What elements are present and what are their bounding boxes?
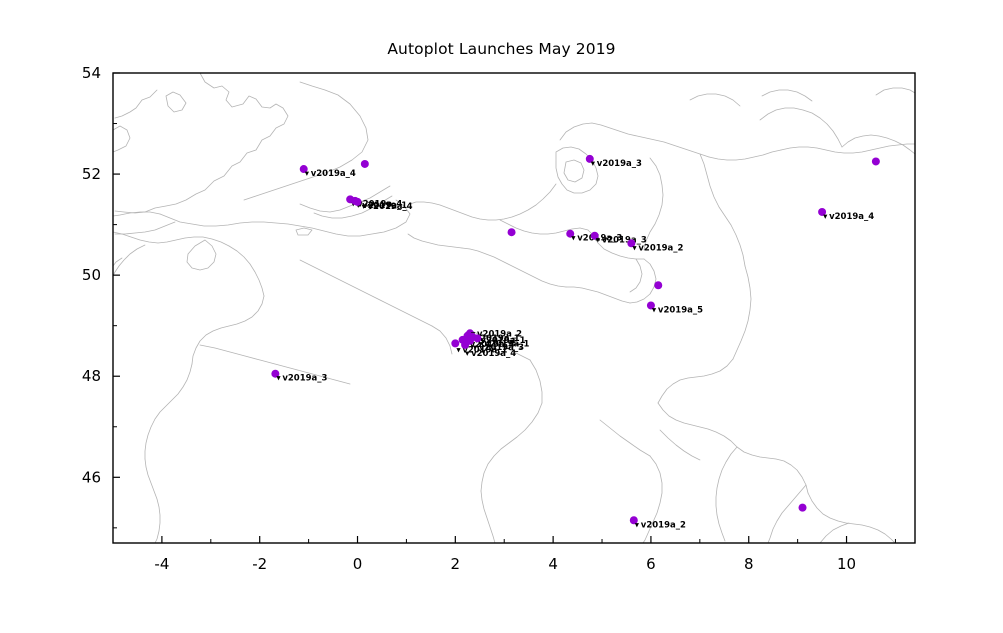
y-tick-label: 46 bbox=[82, 468, 101, 486]
x-tick-label: 2 bbox=[451, 555, 461, 573]
data-point-marker-glyph: ▾ bbox=[362, 202, 367, 212]
y-tick-label: 52 bbox=[82, 165, 101, 183]
data-point-marker bbox=[354, 198, 362, 206]
x-tick-label: 6 bbox=[646, 555, 656, 573]
x-tick-label: 8 bbox=[744, 555, 754, 573]
data-point-marker bbox=[872, 157, 880, 165]
data-point-label: v2019a_4 bbox=[829, 212, 874, 222]
data-point-marker bbox=[799, 504, 807, 512]
x-tick-label: -4 bbox=[154, 555, 169, 573]
data-point-label: v2019a_2 bbox=[641, 520, 686, 530]
data-point-marker-glyph: ▾ bbox=[591, 159, 596, 169]
data-point-marker-glyph: ▾ bbox=[571, 234, 576, 244]
x-tick-label: 0 bbox=[353, 555, 363, 573]
data-point-marker-glyph: ▾ bbox=[823, 212, 828, 222]
y-tick-label: 48 bbox=[82, 367, 101, 385]
data-point-marker-glyph: ▾ bbox=[465, 349, 470, 359]
data-point-marker-glyph: ▾ bbox=[456, 345, 461, 355]
data-point-marker-glyph: ▾ bbox=[652, 305, 657, 315]
data-point-label: v2019a_3 bbox=[282, 374, 327, 384]
x-tick-label: 4 bbox=[548, 555, 558, 573]
data-point-label: v2019a_4 bbox=[368, 202, 413, 212]
data-point-label: v2019a_4 bbox=[311, 169, 356, 179]
plot-background bbox=[113, 73, 915, 543]
x-tick-label: 10 bbox=[837, 555, 856, 573]
data-point-label: v2019a_4 bbox=[471, 349, 516, 359]
data-point-marker-glyph: ▾ bbox=[276, 374, 281, 384]
data-point-marker bbox=[654, 281, 662, 289]
data-point-marker-glyph: ▾ bbox=[632, 243, 637, 253]
data-point-marker bbox=[361, 160, 369, 168]
data-point-label: v2019a_1 bbox=[484, 339, 529, 349]
data-point-label: v2019a_3 bbox=[597, 159, 642, 169]
data-point-marker bbox=[508, 228, 516, 236]
data-point-marker-glyph: ▾ bbox=[596, 236, 601, 246]
data-point-marker-glyph: ▾ bbox=[305, 169, 310, 179]
data-point-marker bbox=[461, 341, 469, 349]
y-tick-label: 50 bbox=[82, 266, 101, 284]
x-tick-label: -2 bbox=[252, 555, 267, 573]
data-point-marker-glyph: ▾ bbox=[635, 520, 640, 530]
data-point-label: v2019a_5 bbox=[658, 305, 703, 315]
data-point-label: v2019a_2 bbox=[638, 243, 683, 253]
data-point-marker-glyph: ▾ bbox=[478, 339, 483, 349]
y-tick-label: 54 bbox=[82, 64, 101, 82]
scatter-map-plot: -4-20246810 4648505254 ▾v2019a_4▾v2019a_… bbox=[0, 0, 1003, 633]
figure-canvas: Autoplot Launches May 2019 bbox=[0, 0, 1003, 633]
